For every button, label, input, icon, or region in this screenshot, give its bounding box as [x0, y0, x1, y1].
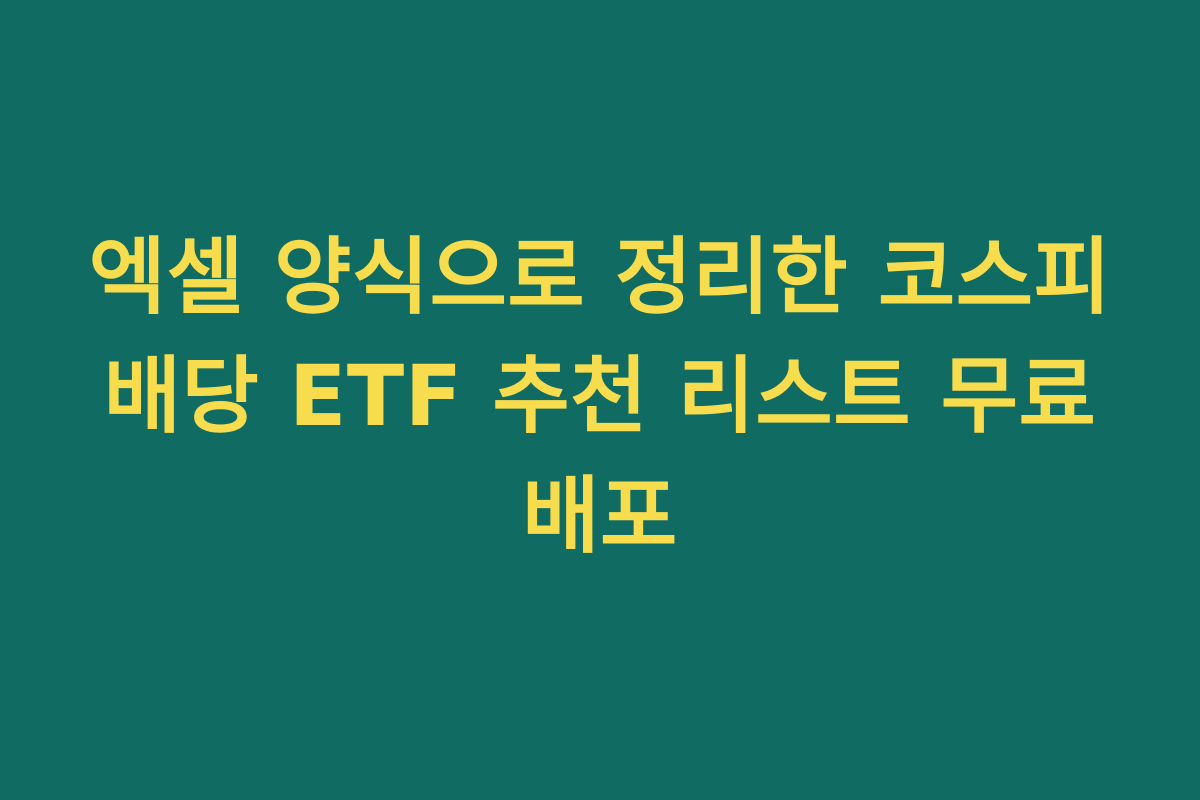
headline-block: 엑셀 양식으로 정리한 코스피 배당 ETF 추천 리스트 무료 배포: [70, 218, 1130, 576]
headline-title: 엑셀 양식으로 정리한 코스피 배당 ETF 추천 리스트 무료 배포: [70, 218, 1130, 576]
thumbnail-canvas: 엑셀 양식으로 정리한 코스피 배당 ETF 추천 리스트 무료 배포: [0, 0, 1200, 800]
